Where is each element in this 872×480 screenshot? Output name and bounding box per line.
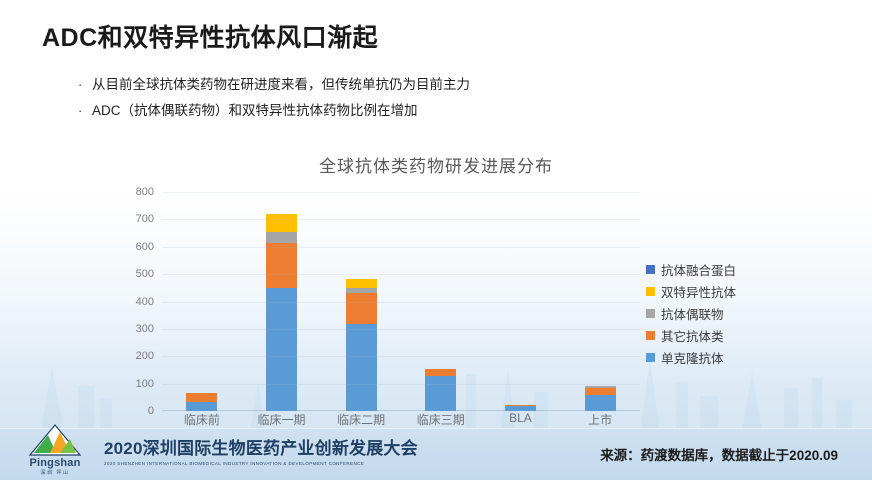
gridline: [162, 329, 640, 330]
y-axis-tick-label: 800: [136, 186, 154, 198]
legend-swatch-icon: [646, 309, 655, 318]
y-axis-tick-label: 200: [136, 350, 154, 362]
logo-subtext: 深圳 坪山: [18, 469, 92, 476]
chart-legend: 抗体融合蛋白双特异性抗体抗体偶联物其它抗体类单克隆抗体: [646, 258, 786, 368]
y-axis-tick-label: 100: [136, 378, 154, 390]
gridline: [162, 247, 640, 248]
chart-title: 全球抗体类药物研发进展分布: [0, 152, 872, 177]
bar-segment[interactable]: [346, 293, 377, 324]
bullet-list: · 从目前全球抗体类药物在研进度来看，但传统单抗仍为目前主力 · ADC（抗体偶…: [78, 72, 678, 124]
bar-segment[interactable]: [266, 288, 297, 411]
pingshan-logo-icon: [26, 423, 84, 457]
bullet-text: 从目前全球抗体类药物在研进度来看，但传统单抗仍为目前主力: [92, 72, 470, 98]
logo-text: Pingshan: [18, 457, 92, 469]
bullet-marker-icon: ·: [78, 98, 92, 124]
y-axis: 8007006005004003002001000: [110, 186, 158, 411]
x-axis-tick-label: BLA: [485, 411, 555, 428]
bar-stack[interactable]: [186, 393, 217, 411]
legend-swatch-icon: [646, 265, 655, 274]
legend-label: 抗体融合蛋白: [661, 260, 736, 279]
legend-swatch-icon: [646, 287, 655, 296]
bar-segment[interactable]: [585, 395, 616, 411]
gridline: [162, 384, 640, 385]
page-title: ADC和双特异性抗体风口渐起: [42, 18, 378, 54]
bar-stack[interactable]: [266, 214, 297, 411]
logo: Pingshan 深圳 坪山: [18, 423, 92, 476]
y-axis-tick-label: 300: [136, 323, 154, 335]
x-axis-labels: 临床前临床一期临床二期临床三期BLA上市: [162, 411, 640, 428]
bar-segment[interactable]: [266, 214, 297, 232]
legend-item[interactable]: 抗体融合蛋白: [646, 258, 786, 280]
gridline: [162, 302, 640, 303]
plot-area: [162, 192, 640, 411]
gridline: [162, 192, 640, 193]
y-axis-tick-label: 600: [136, 241, 154, 253]
legend-item[interactable]: 抗体偶联物: [646, 302, 786, 324]
bar-segment[interactable]: [266, 232, 297, 243]
legend-swatch-icon: [646, 331, 655, 340]
x-axis-tick-label: 临床前: [167, 411, 237, 428]
bar-stack[interactable]: [425, 369, 456, 411]
x-axis-tick-label: 临床一期: [246, 411, 316, 428]
x-axis-tick-label: 临床三期: [406, 411, 476, 428]
legend-swatch-icon: [646, 353, 655, 362]
gridline: [162, 219, 640, 220]
conference-name-en: 2020 SHENZHEN INTERNATIONAL BIOMEDICAL I…: [104, 461, 418, 466]
bar-segment[interactable]: [346, 279, 377, 289]
bar-chart: 8007006005004003002001000 临床前临床一期临床二期临床三…: [110, 186, 650, 411]
legend-item[interactable]: 单克隆抗体: [646, 346, 786, 368]
bullet-marker-icon: ·: [78, 72, 92, 98]
conference-name-cn: 2020深圳国际生物医药产业创新发展大会: [104, 434, 418, 459]
legend-label: 双特异性抗体: [661, 282, 736, 301]
bar-stack[interactable]: [346, 279, 377, 411]
legend-label: 其它抗体类: [661, 326, 724, 345]
source-note: 来源：药渡数据库，数据截止于2020.09: [600, 444, 838, 464]
bar-segment[interactable]: [186, 393, 217, 402]
bar-segment[interactable]: [425, 376, 456, 411]
y-axis-tick-label: 400: [136, 296, 154, 308]
bar-stack[interactable]: [585, 386, 616, 411]
legend-item[interactable]: 其它抗体类: [646, 324, 786, 346]
gridline: [162, 274, 640, 275]
bar-segment[interactable]: [266, 243, 297, 288]
list-item: · ADC（抗体偶联药物）和双特异性抗体药物比例在增加: [78, 98, 678, 124]
y-axis-tick-label: 0: [148, 405, 154, 417]
legend-label: 抗体偶联物: [661, 304, 724, 323]
slide-canvas: ADC和双特异性抗体风口渐起 · 从目前全球抗体类药物在研进度来看，但传统单抗仍…: [0, 0, 872, 480]
legend-label: 单克隆抗体: [661, 348, 724, 367]
legend-item[interactable]: 双特异性抗体: [646, 280, 786, 302]
bullet-text: ADC（抗体偶联药物）和双特异性抗体药物比例在增加: [92, 98, 418, 124]
conference-name: 2020深圳国际生物医药产业创新发展大会 2020 SHENZHEN INTER…: [104, 434, 418, 466]
y-axis-tick-label: 700: [136, 213, 154, 225]
bar-segment[interactable]: [186, 402, 217, 411]
list-item: · 从目前全球抗体类药物在研进度来看，但传统单抗仍为目前主力: [78, 72, 678, 98]
x-axis-tick-label: 临床二期: [326, 411, 396, 428]
bar-segment[interactable]: [425, 369, 456, 376]
bar-segment[interactable]: [346, 324, 377, 411]
x-axis-tick-label: 上市: [565, 411, 635, 428]
y-axis-tick-label: 500: [136, 268, 154, 280]
gridline: [162, 356, 640, 357]
